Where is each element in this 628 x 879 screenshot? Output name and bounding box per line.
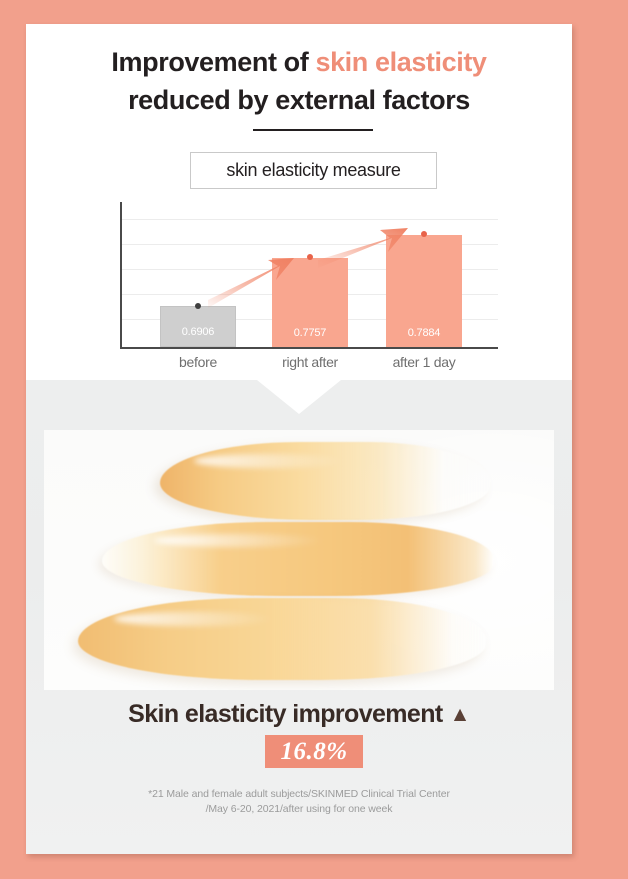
smear-highlight bbox=[194, 454, 344, 468]
improvement-percent-value: 16.8% bbox=[280, 738, 347, 766]
bar-value-label: 0.7757 bbox=[272, 327, 348, 339]
improvement-percent-badge: 16.8% bbox=[265, 735, 363, 768]
chart-title-label: skin elasticity measure bbox=[226, 160, 400, 181]
bar-before: 0.6906 bbox=[160, 306, 236, 347]
headline-line1-accent: skin elasticity bbox=[315, 47, 486, 77]
footnote-line2: /May 6-20, 2021/after using for one week bbox=[206, 803, 393, 815]
footnote-line1: *21 Male and female adult subjects/SKINM… bbox=[148, 788, 450, 800]
study-footnote: *21 Male and female adult subjects/SKINM… bbox=[26, 787, 572, 817]
x-tick-after-1-day: after 1 day bbox=[369, 354, 479, 370]
product-result-panel: Skin elasticity improvement▲ 16.8% *21 M… bbox=[26, 380, 572, 854]
smear-highlight bbox=[154, 534, 324, 547]
cream-smear-stroke bbox=[102, 522, 494, 596]
bar-value-label: 0.7884 bbox=[386, 327, 462, 339]
product-texture-image bbox=[44, 430, 554, 690]
chart-plot-area: 0.6906 0.7757 0.7884 bbox=[120, 202, 498, 349]
panel-notch-triangle bbox=[257, 380, 341, 414]
bar-value-label: 0.6906 bbox=[161, 326, 235, 338]
cream-smear-stroke bbox=[160, 442, 490, 520]
cream-smear-stroke bbox=[78, 598, 486, 680]
bar-dot-icon bbox=[195, 303, 201, 309]
result-headline: Skin elasticity improvement▲ bbox=[26, 700, 572, 729]
bar-dot-icon bbox=[307, 254, 313, 260]
headline-line1-prefix: Improvement of bbox=[111, 47, 315, 77]
elasticity-bar-chart: 0.6906 0.7757 0.7884 bbox=[26, 202, 572, 382]
bar-right-after: 0.7757 bbox=[272, 258, 348, 347]
title-divider bbox=[253, 129, 373, 131]
x-tick-before: before bbox=[143, 354, 253, 370]
bar-after-1-day: 0.7884 bbox=[386, 235, 462, 347]
result-headline-text: Skin elasticity improvement bbox=[128, 700, 442, 728]
chart-y-axis bbox=[120, 202, 122, 349]
x-tick-right-after: right after bbox=[255, 354, 365, 370]
headline-line2: reduced by external factors bbox=[128, 85, 470, 115]
smear-highlight bbox=[114, 612, 274, 626]
chart-x-axis bbox=[120, 347, 498, 349]
poster-canvas: Improvement of skin elasticity reduced b… bbox=[0, 0, 628, 879]
chart-title-box: skin elasticity measure bbox=[190, 152, 437, 189]
triangle-up-icon: ▲ bbox=[450, 703, 470, 727]
page-title: Improvement of skin elasticity reduced b… bbox=[26, 43, 572, 119]
chart-x-tick-labels: before right after after 1 day bbox=[120, 354, 498, 380]
chart-gridline bbox=[122, 219, 498, 220]
bar-dot-icon bbox=[421, 231, 427, 237]
content-card: Improvement of skin elasticity reduced b… bbox=[26, 24, 572, 854]
